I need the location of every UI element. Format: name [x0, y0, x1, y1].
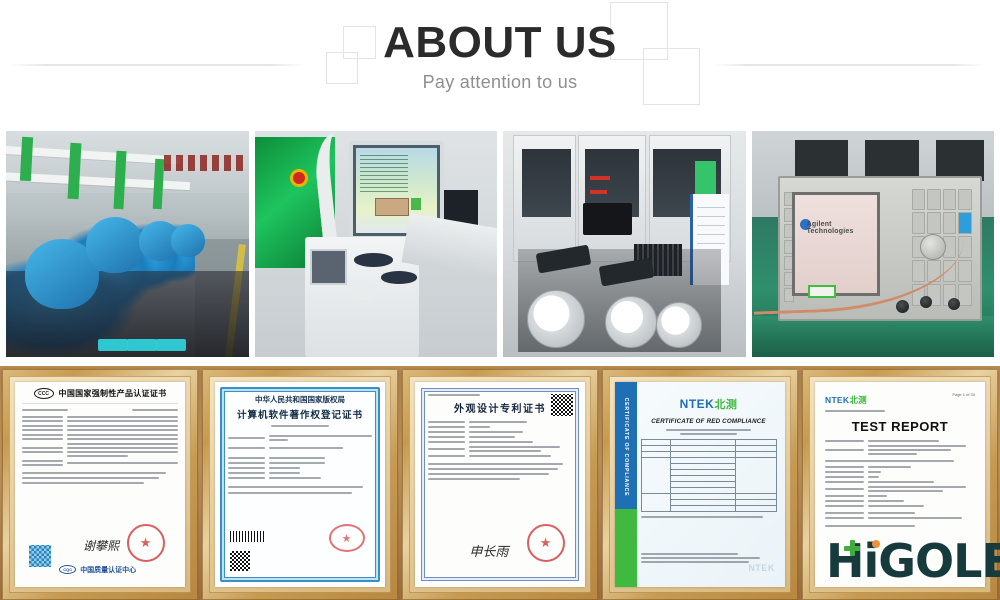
dark-window	[936, 140, 985, 181]
emergency-stop-button	[293, 172, 305, 184]
logo-letters-rest: iGOLE	[864, 534, 1000, 588]
qr-code	[230, 551, 250, 571]
certificate-frame-red-compliance[interactable]: CERTIFICATE OF COMPLIANCE NTEK北测 CERTIFI…	[602, 369, 798, 600]
page-subtitle: Pay attention to us	[0, 71, 1000, 93]
page-header: ABOUT US Pay attention to us	[0, 0, 1000, 118]
certificate-title: 中国国家强制性产品认证证书	[59, 388, 167, 399]
dark-window	[795, 140, 848, 181]
component-reel	[527, 290, 585, 348]
higole-wordmark: HiGOLE	[826, 538, 1000, 584]
red-shelf-rack	[164, 155, 244, 171]
logo-letter-h: H	[826, 534, 864, 588]
issuer-name: 中国质量认证中心	[80, 565, 136, 575]
signature: 谢攀熙	[83, 537, 119, 554]
logo-dot-icon	[872, 540, 880, 548]
certificate-sidebar: CERTIFICATE OF COMPLIANCE	[615, 382, 637, 587]
ntek-logo: NTEK北测	[825, 395, 867, 405]
machine-vent	[381, 271, 417, 283]
official-seal	[127, 524, 165, 562]
green-column	[19, 137, 32, 182]
certificate-frame-software-copyright[interactable]: 中华人民共和国国家版权局 计算机软件著作权登记证书	[202, 369, 398, 600]
industrial-pc	[310, 249, 346, 285]
issuing-authority: 中华人民共和国国家版权局	[228, 394, 372, 405]
rf-port	[896, 300, 909, 313]
certificate-frame-design-patent[interactable]: 外观设计专利证书 申长雨	[402, 369, 598, 600]
green-workbench-surface	[752, 316, 995, 357]
higole-logo: HiGOLE 高乐	[826, 530, 1000, 592]
certificate-meta	[22, 409, 178, 411]
machine-window	[522, 149, 571, 217]
certificate-header: CCC 中国国家强制性产品认证证书	[22, 388, 178, 404]
official-seal	[329, 524, 365, 552]
red-label	[590, 176, 609, 180]
certificate-document: 中华人民共和国国家版权局 计算机软件著作权登记证书	[215, 382, 385, 587]
photo-rf-test-instrument: Agilent Technologies Agilent Technologie…	[752, 131, 995, 357]
machine-vent	[354, 253, 393, 267]
component-reel	[605, 296, 657, 348]
product-tray	[127, 339, 157, 351]
issuer-block: CQC 中国质量认证中心	[59, 565, 136, 575]
certificate-document: CCC 中国国家强制性产品认证证书	[15, 382, 185, 587]
component-hopper	[583, 203, 632, 235]
certificate-frame-ccc[interactable]: CCC 中国国家强制性产品认证证书	[2, 369, 198, 600]
rf-port	[948, 298, 960, 310]
report-title: TEST REPORT	[825, 419, 975, 434]
screen-status-indicator	[411, 198, 421, 210]
header-text-block: ABOUT US Pay attention to us	[0, 0, 1000, 93]
certificate-document: 外观设计专利证书 申长雨	[415, 382, 585, 587]
qr-code	[551, 394, 573, 416]
about-us-page: ABOUT US Pay attention to us Factory	[0, 0, 1000, 600]
photo-aoi-machine: SMT AOI inspection machine with monitor	[255, 131, 498, 357]
green-column	[153, 159, 165, 209]
logo-cross-icon2	[850, 540, 855, 556]
ntek-brand-cn: 北测	[714, 399, 737, 411]
official-seal	[527, 524, 565, 562]
qr-code	[29, 545, 51, 567]
ccc-mark-icon: CCC	[34, 388, 54, 399]
ntek-logo: NTEK北测	[641, 396, 777, 412]
green-column	[114, 151, 127, 209]
component-reel	[656, 302, 702, 348]
green-component-tray	[695, 161, 715, 196]
worker-figure	[171, 224, 205, 257]
certificate-title: 计算机软件著作权登记证书	[228, 407, 372, 421]
screen-pcb-preview	[375, 198, 409, 217]
rf-port	[920, 296, 932, 308]
red-label	[590, 190, 607, 194]
product-tray	[98, 339, 128, 351]
dark-window	[865, 140, 918, 181]
photo-assembly-line: Factory assembly line workers in blue an…	[6, 131, 249, 357]
page-number: Page 1 of 30	[952, 392, 975, 397]
certificate-document: CERTIFICATE OF COMPLIANCE NTEK北测 CERTIFI…	[615, 382, 785, 587]
ntek-brand: NTEK	[825, 395, 849, 405]
page-title: ABOUT US	[0, 20, 1000, 66]
signature: 申长雨	[469, 541, 508, 560]
facility-photo-strip: Factory assembly line workers in blue an…	[6, 131, 994, 357]
photo-pick-and-place: SMT pick-and-place machines with compone…	[503, 131, 746, 357]
cqc-logo-icon: CQC	[59, 565, 76, 574]
sidebar-text: CERTIFICATE OF COMPLIANCE	[623, 397, 629, 496]
ntek-watermark: NTEK	[748, 563, 775, 573]
product-tray	[156, 339, 186, 351]
ntek-brand-cn: 北测	[849, 395, 867, 405]
worker-figure	[86, 217, 144, 273]
certificate-title: CERTIFICATE OF RED COMPLIANCE	[641, 418, 777, 425]
ntek-brand: NTEK	[680, 397, 715, 411]
screen-text-lines	[360, 155, 408, 194]
barcode	[230, 531, 264, 542]
standards-table	[641, 439, 777, 512]
